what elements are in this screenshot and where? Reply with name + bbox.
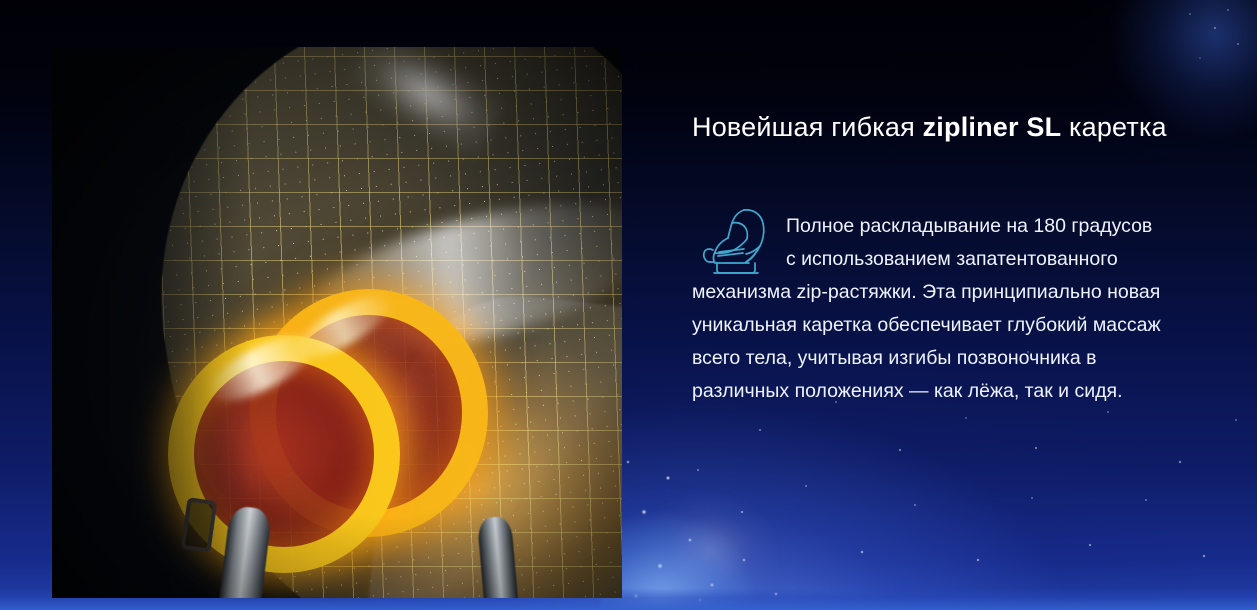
slide-root: Новейшая гибкая zipliner SL каретка П — [0, 0, 1257, 610]
description-text: Полное раскладывание на 180 градусов с и… — [692, 210, 1222, 408]
description-line: уникальная каретка обеспечивает глубокий… — [692, 309, 1222, 342]
headline-prefix: Новейшая гибкая — [692, 112, 923, 142]
description-line: различных положениях — как лёжа, так и с… — [692, 375, 1222, 408]
text-panel: Новейшая гибкая zipliner SL каретка П — [692, 0, 1222, 610]
description-line: механизма zip-растяжки. Эта принципиальн… — [692, 276, 1222, 309]
description-line: Полное раскладывание на 180 градусов — [692, 210, 1222, 243]
photo-vignette — [52, 47, 622, 598]
page-title: Новейшая гибкая zipliner SL каретка — [692, 110, 1222, 144]
description-line: с использованием запатентованного — [692, 243, 1222, 276]
description-line: всего тела, учитывая изгибы позвоночника… — [692, 342, 1222, 375]
headline-suffix: каретка — [1061, 112, 1166, 142]
product-photo — [52, 47, 622, 598]
headline-brand: zipliner SL — [923, 112, 1062, 142]
